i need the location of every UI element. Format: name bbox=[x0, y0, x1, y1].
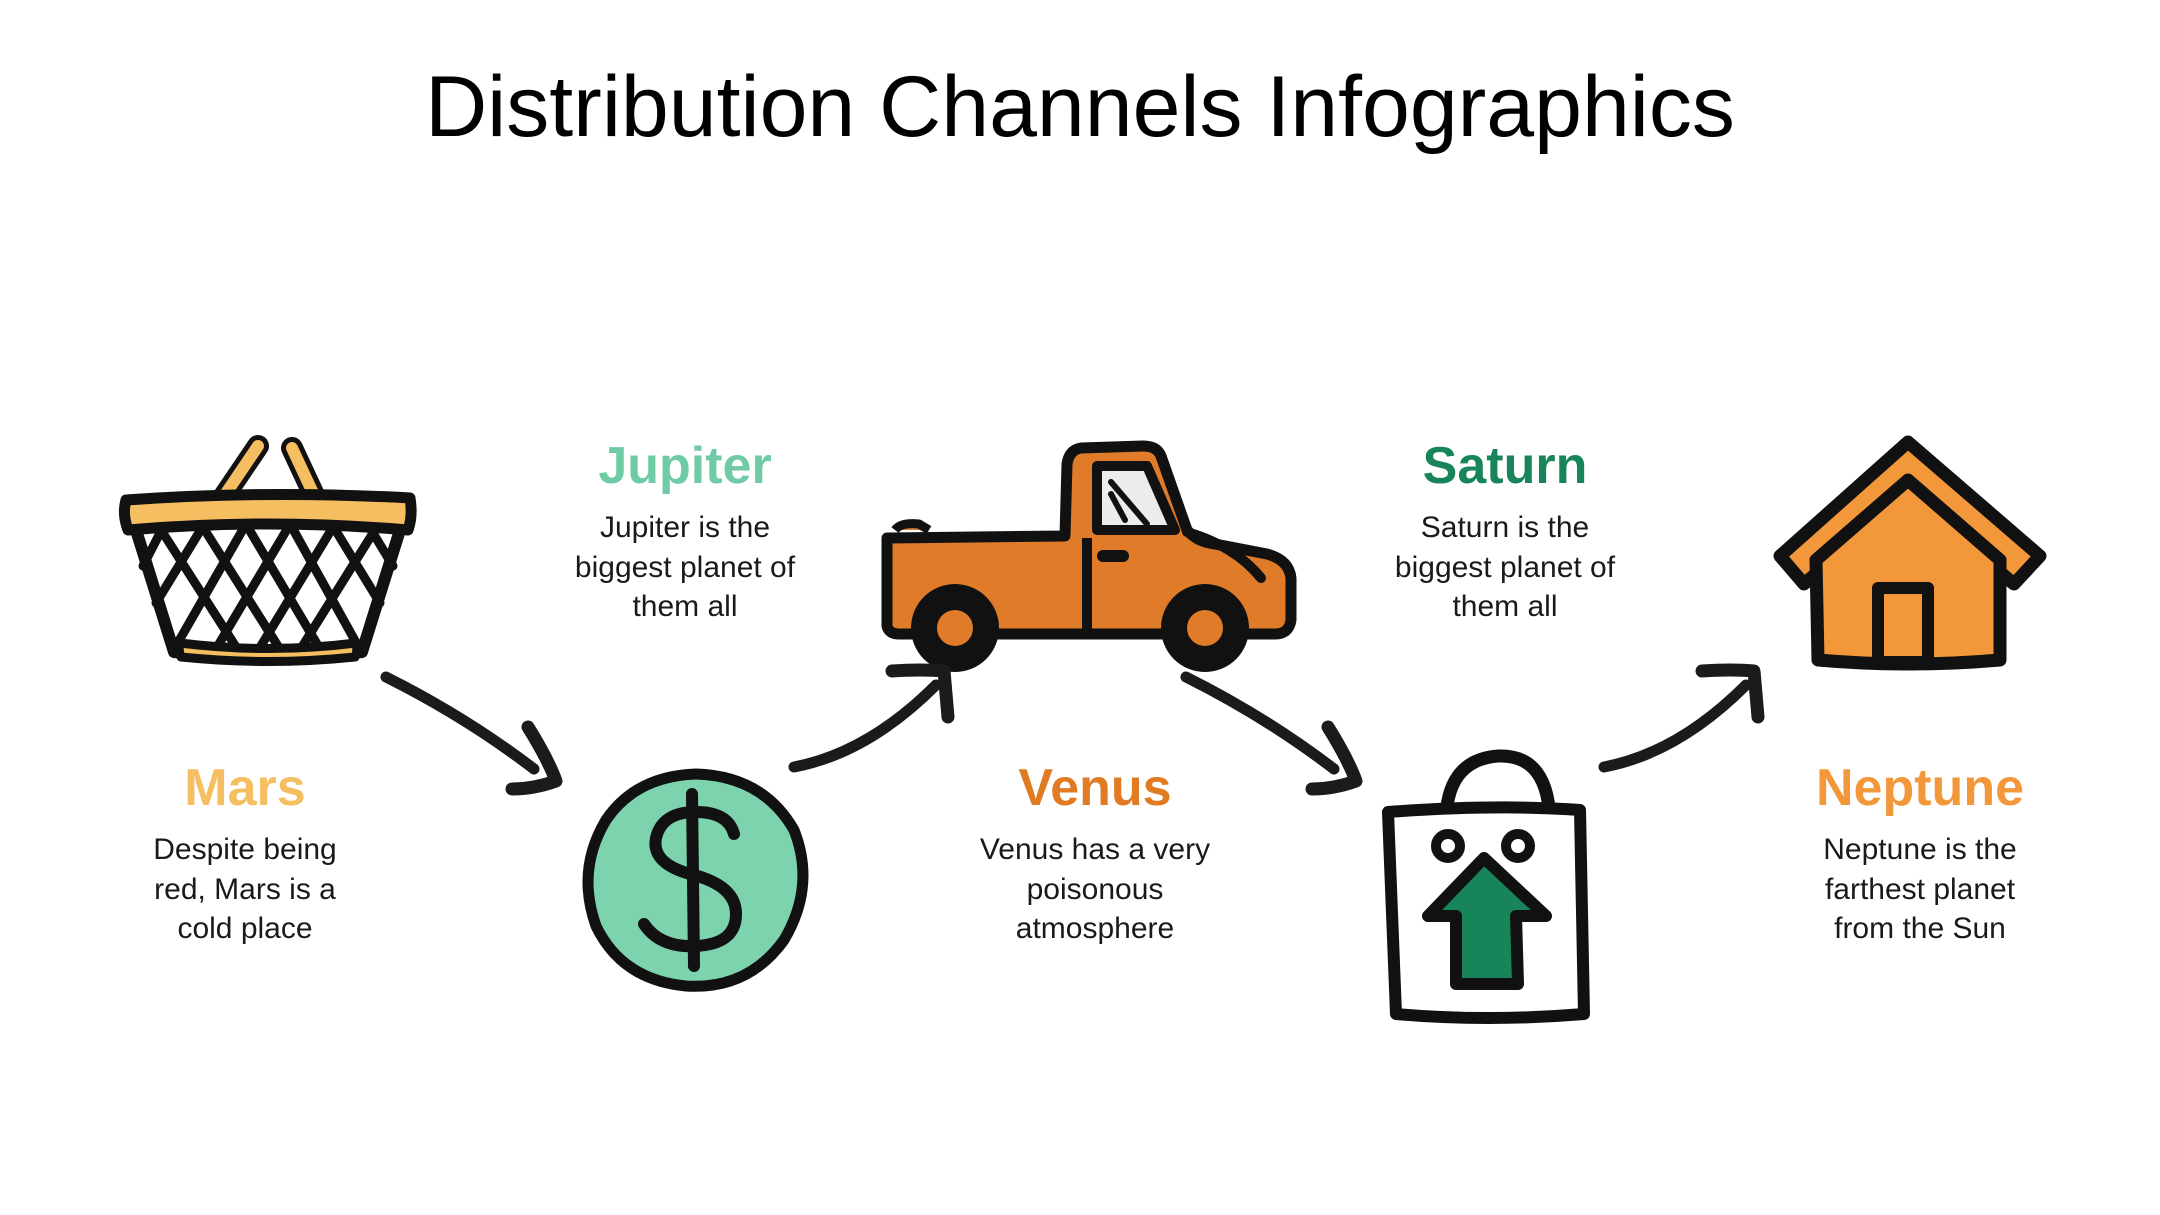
step-title-mars: Mars bbox=[100, 760, 390, 816]
shopping-basket-icon bbox=[108, 438, 428, 683]
delivery-truck-icon bbox=[875, 438, 1315, 683]
desc-line: Saturn is the bbox=[1345, 508, 1665, 548]
step-description-neptune: Neptune is the farthest planet from the … bbox=[1755, 830, 2085, 949]
step-description-saturn: Saturn is the biggest planet of them all bbox=[1345, 508, 1665, 627]
step-title-jupiter: Jupiter bbox=[525, 438, 845, 494]
desc-line: them all bbox=[525, 587, 845, 627]
step-mars: Mars Despite being red, Mars is a cold p… bbox=[100, 760, 390, 949]
step-venus: Venus Venus has a very poisonous atmosph… bbox=[930, 760, 1260, 949]
desc-line: Despite being bbox=[100, 830, 390, 870]
step-neptune: Neptune Neptune is the farthest planet f… bbox=[1755, 760, 2085, 949]
desc-line: Venus has a very bbox=[930, 830, 1260, 870]
desc-line: red, Mars is a bbox=[100, 870, 390, 910]
desc-line: biggest planet of bbox=[1345, 548, 1665, 588]
step-description-venus: Venus has a very poisonous atmosphere bbox=[930, 830, 1260, 949]
dollar-coin-icon bbox=[578, 768, 813, 993]
step-description-mars: Despite being red, Mars is a cold place bbox=[100, 830, 390, 949]
step-saturn: Saturn Saturn is the biggest planet of t… bbox=[1345, 438, 1665, 627]
desc-line: Jupiter is the bbox=[525, 508, 845, 548]
desc-line: poisonous bbox=[930, 870, 1260, 910]
step-description-jupiter: Jupiter is the biggest planet of them al… bbox=[525, 508, 845, 627]
desc-line: them all bbox=[1345, 587, 1665, 627]
desc-line: from the Sun bbox=[1755, 909, 2085, 949]
connector-arrow-down-right bbox=[378, 665, 613, 813]
desc-line: farthest planet bbox=[1755, 870, 2085, 910]
desc-line: Neptune is the bbox=[1755, 830, 2085, 870]
desc-line: biggest planet of bbox=[525, 548, 845, 588]
house-icon bbox=[1768, 428, 2053, 683]
step-jupiter: Jupiter Jupiter is the biggest planet of… bbox=[525, 438, 845, 627]
step-title-saturn: Saturn bbox=[1345, 438, 1665, 494]
desc-line: cold place bbox=[100, 909, 390, 949]
page-title: Distribution Channels Infographics bbox=[0, 58, 2160, 157]
step-title-neptune: Neptune bbox=[1755, 760, 2085, 816]
desc-line: atmosphere bbox=[930, 909, 1260, 949]
step-title-venus: Venus bbox=[930, 760, 1260, 816]
